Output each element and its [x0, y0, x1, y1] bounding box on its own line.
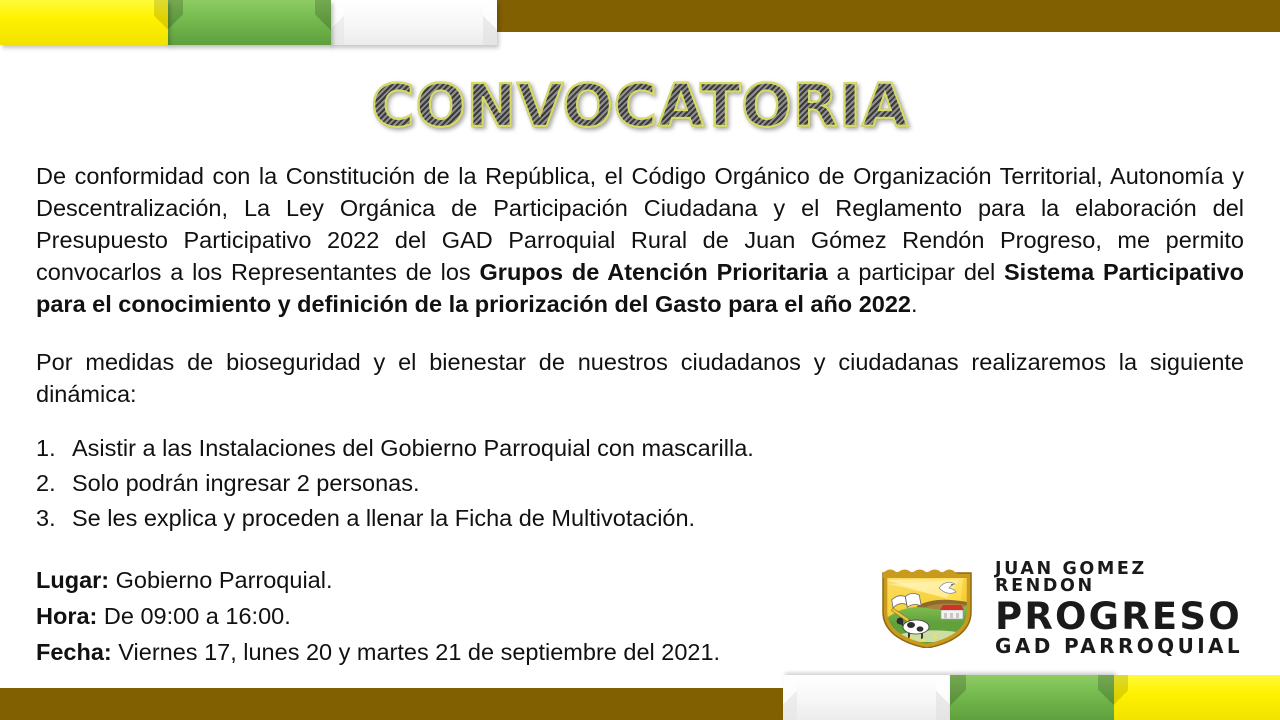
banner-bottom-segment-brown [0, 688, 783, 720]
list-item-number: 1. [36, 432, 72, 464]
paragraph-biosecurity: Por medidas de bioseguridad y el bienest… [36, 346, 1244, 410]
detail-label-lugar: Lugar: [36, 567, 109, 593]
banner-top-segment-yellow [0, 0, 168, 45]
paragraph-convocation-part-3: . [911, 291, 918, 317]
list-item-text: Se les explica y proceden a llenar la Fi… [72, 502, 1244, 534]
banner-bottom-segment-yellow [1114, 675, 1280, 720]
list-item-text: Asistir a las Instalaciones del Gobierno… [72, 432, 1244, 464]
logo-line-3: GAD PARROQUIAL [995, 636, 1253, 656]
detail-value-lugar: Gobierno Parroquial. [109, 567, 332, 593]
list-item-text: Solo podrán ingresar 2 personas. [72, 467, 1244, 499]
organization-logo: JUAN GOMEZ RENDON PROGRESO GAD PARROQUIA… [877, 566, 1253, 650]
detail-label-hora: Hora: [36, 603, 97, 629]
banner-top-segment-white [330, 0, 497, 45]
detail-label-fecha: Fecha: [36, 639, 112, 665]
list-item: 1. Asistir a las Instalaciones del Gobie… [36, 432, 1244, 464]
page-title: CONVOCATORIA [371, 76, 908, 135]
logo-line-2: PROGRESO [995, 598, 1253, 635]
paragraph-convocation: De conformidad con la Constitución de la… [36, 160, 1244, 320]
list-item: 3. Se les explica y proceden a llenar la… [36, 502, 1244, 534]
detail-value-hora: De 09:00 a 16:00. [97, 603, 290, 629]
banner-top-segment-brown [497, 0, 1280, 32]
banner-bottom-segment-white [783, 675, 950, 720]
logo-line-1: JUAN GOMEZ RENDON [995, 561, 1253, 596]
paragraph-convocation-bold-1: Grupos de Atención Prioritaria [480, 259, 828, 285]
page-title-container: CONVOCATORIA [0, 76, 1280, 135]
list-item: 2. Solo podrán ingresar 2 personas. [36, 467, 1244, 499]
paragraph-convocation-part-2: a participar del [828, 259, 1004, 285]
logo-wordmark: JUAN GOMEZ RENDON PROGRESO GAD PARROQUIA… [995, 561, 1253, 656]
detail-value-fecha: Viernes 17, lunes 20 y martes 21 de sept… [112, 639, 720, 665]
list-item-number: 3. [36, 502, 72, 534]
instructions-list: 1. Asistir a las Instalaciones del Gobie… [36, 432, 1244, 534]
list-item-number: 2. [36, 467, 72, 499]
banner-top-segment-green [167, 0, 331, 45]
bottom-decorative-banner [0, 666, 1280, 720]
top-decorative-banner [0, 0, 1280, 52]
banner-bottom-segment-green [950, 675, 1114, 720]
shield-emblem-icon [877, 564, 985, 653]
